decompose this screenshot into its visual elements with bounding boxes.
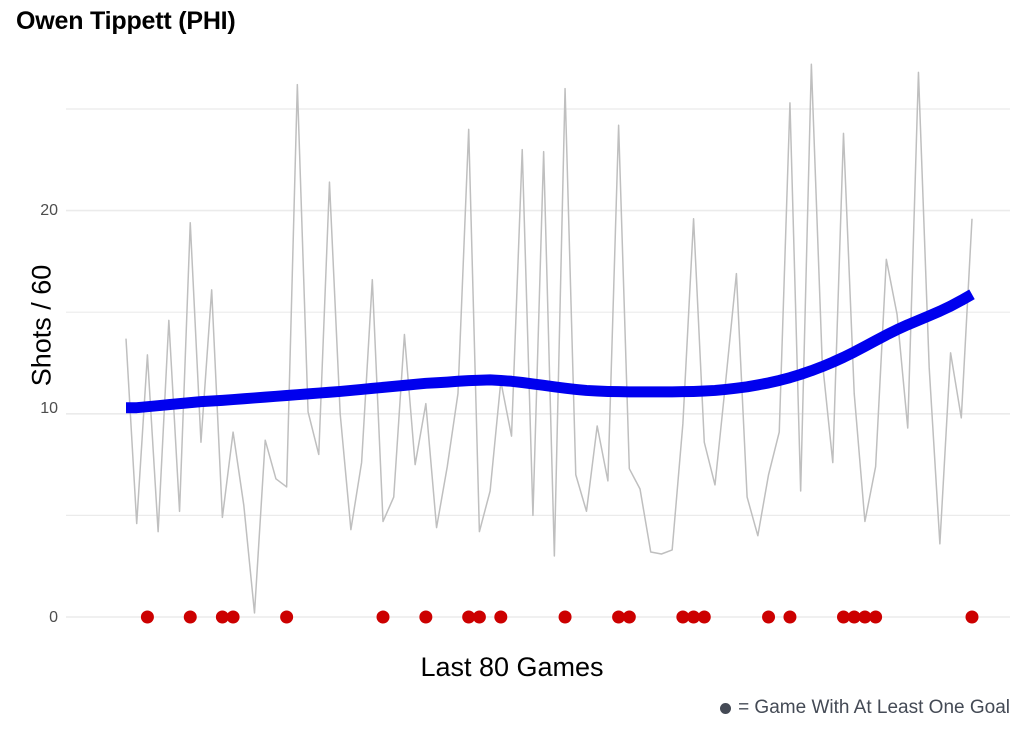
- x-axis-title: Last 80 Games: [0, 652, 1024, 683]
- chart-plot-area: [0, 0, 1024, 731]
- y-tick-0: 0: [0, 609, 58, 627]
- raw-series-line: [126, 64, 972, 613]
- goal-dot-icon: [720, 703, 731, 714]
- legend-label: = Game With At Least One Goal: [738, 697, 1010, 719]
- chart-page: Owen Tippett (PHI) 0 10 20 Shots / 60 La…: [0, 0, 1024, 731]
- legend: = Game With At Least One Goal: [720, 697, 1010, 719]
- y-axis-title: Shots / 60: [27, 246, 58, 406]
- y-tick-20: 20: [0, 202, 58, 220]
